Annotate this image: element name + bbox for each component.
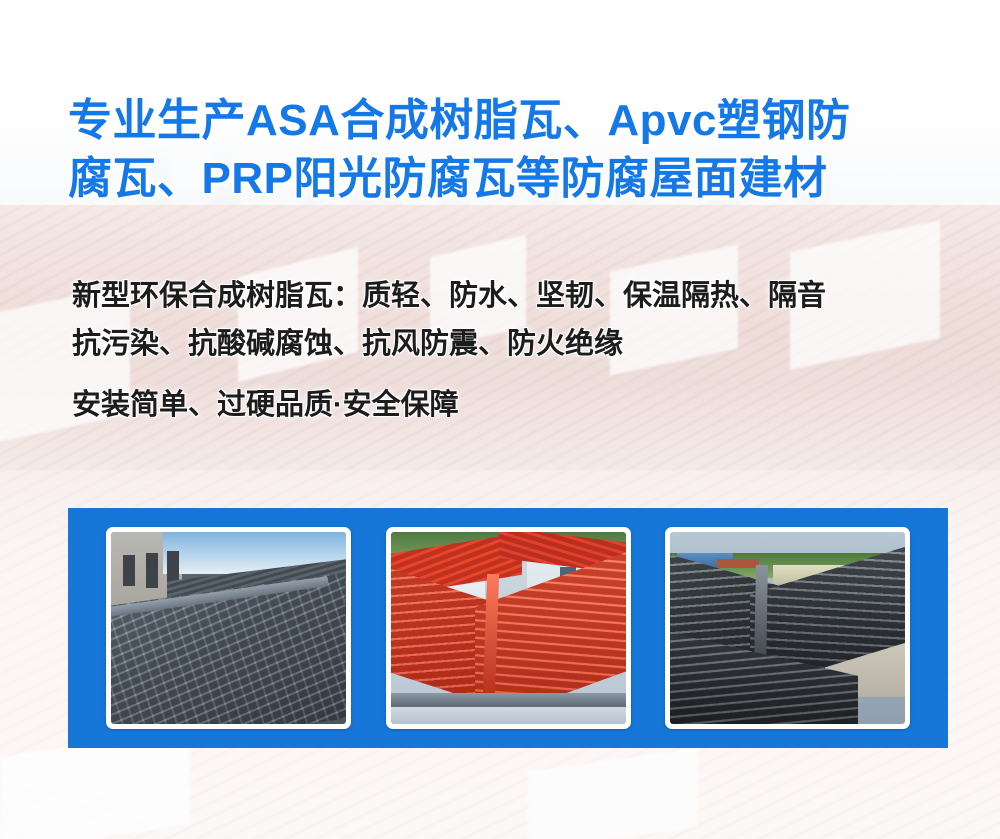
- photo-gallery-panel: [68, 508, 948, 748]
- gallery-photo-grey-resin-tile-roof[interactable]: [106, 527, 351, 729]
- headline: 专业生产ASA合成树脂瓦、Apvc塑钢防 腐瓦、PRP阳光防腐瓦等防腐屋面建材: [68, 92, 948, 208]
- gallery-photo-red-resin-tile-roof[interactable]: [386, 527, 631, 729]
- feature-line-1: 新型环保合成树脂瓦：质轻、防水、坚韧、保温隔热、隔音: [72, 272, 972, 320]
- feature-list: 新型环保合成树脂瓦：质轻、防水、坚韧、保温隔热、隔音 抗污染、抗酸碱腐蚀、抗风防…: [72, 272, 972, 429]
- feature-line-2: 抗污染、抗酸碱腐蚀、抗风防震、防火绝缘: [72, 320, 972, 368]
- headline-line-1: 专业生产ASA合成树脂瓦、Apvc塑钢防: [68, 92, 948, 150]
- photo1-window: [146, 553, 158, 588]
- photo1-window: [123, 555, 135, 586]
- headline-line-2: 腐瓦、PRP阳光防腐瓦等防腐屋面建材: [68, 150, 948, 208]
- photo-image-grey-roof: [111, 532, 346, 724]
- photo2-gutter: [391, 693, 626, 706]
- photo-image-red-roof: [391, 532, 626, 724]
- photo-image-dark-roof: [670, 532, 905, 724]
- photo3-red-building: [717, 559, 759, 569]
- product-banner: 专业生产ASA合成树脂瓦、Apvc塑钢防 腐瓦、PRP阳光防腐瓦等防腐屋面建材 …: [0, 0, 1000, 839]
- feature-line-3: 安装简单、过硬品质·安全保障: [72, 381, 972, 429]
- gallery-photo-dark-grey-tile-roof[interactable]: [665, 527, 910, 729]
